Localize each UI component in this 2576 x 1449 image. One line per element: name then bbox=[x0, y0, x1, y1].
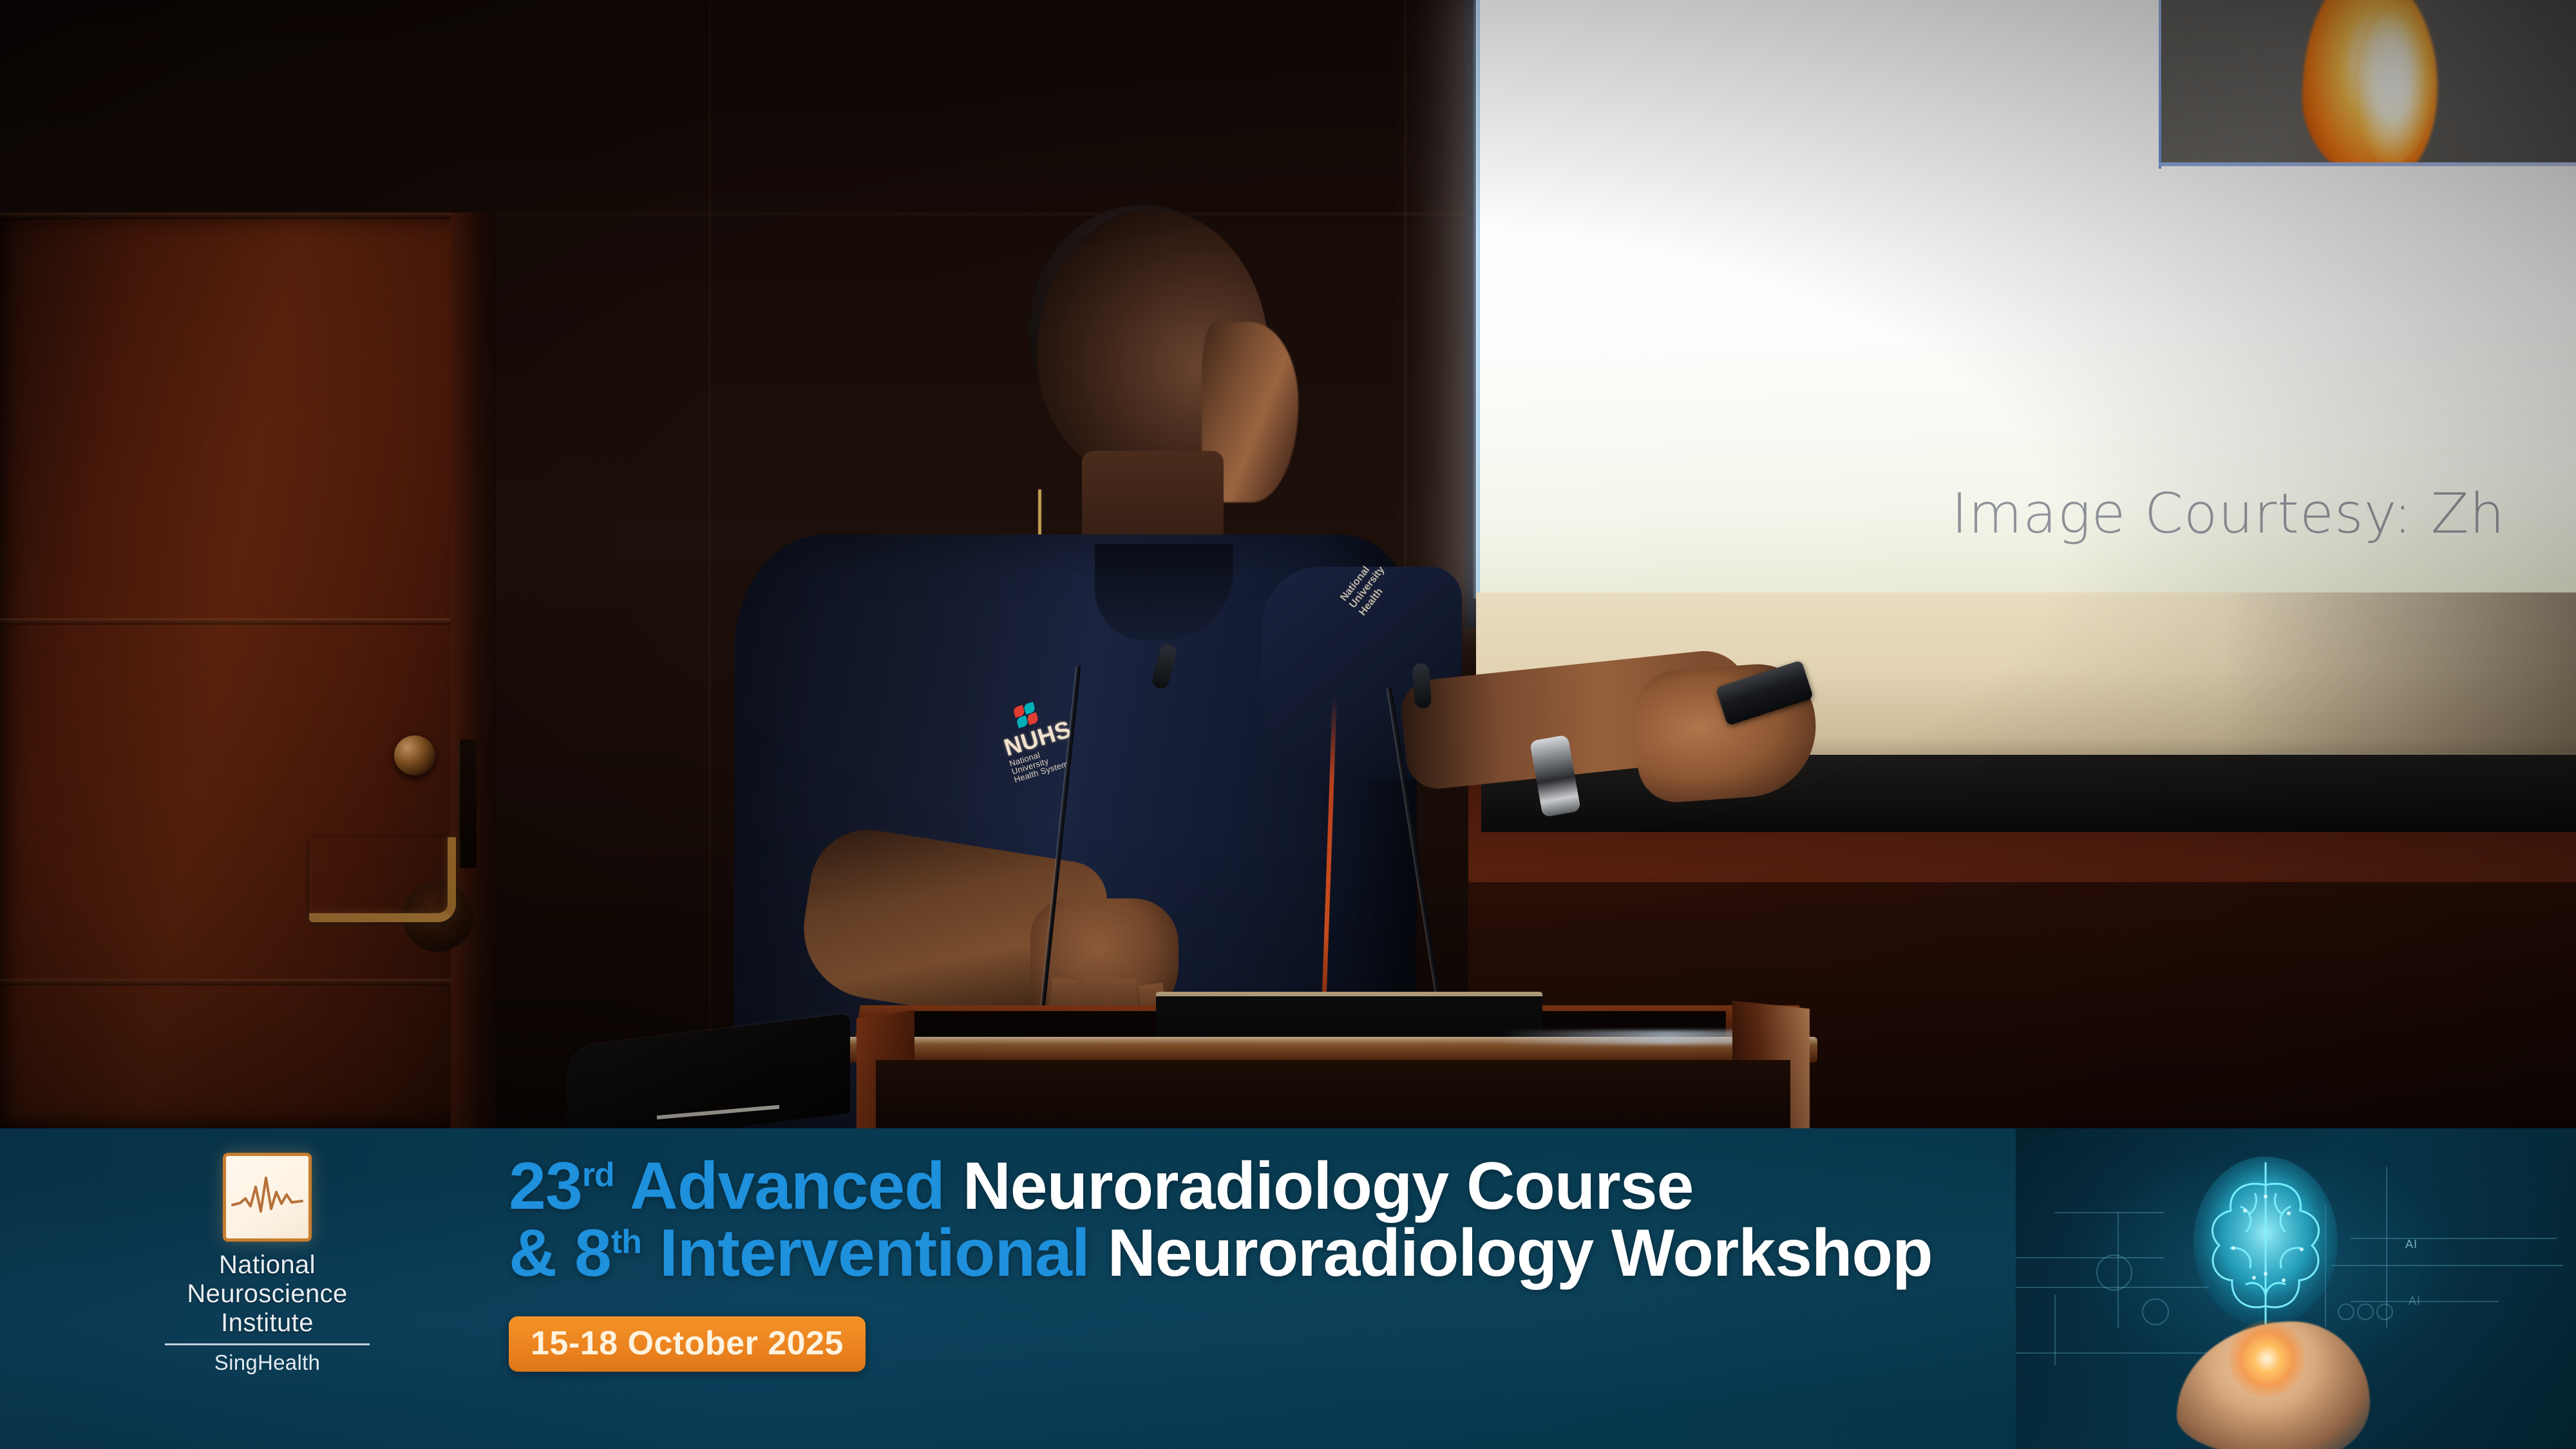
headline-line-1: 23rd Advanced Neuroradiology Course bbox=[509, 1153, 1933, 1220]
podium-body bbox=[876, 1060, 1790, 1128]
ordinal-suffix-rd: rd bbox=[582, 1156, 614, 1193]
accent-word-interventional: Interventional bbox=[641, 1216, 1090, 1291]
wooden-door[interactable] bbox=[0, 213, 489, 1128]
brainwave-svg bbox=[231, 1173, 303, 1220]
nni-line-2: Neuroscience Institute bbox=[161, 1280, 374, 1338]
slide-caption-text: Image Courtesy: Zh bbox=[1951, 482, 2505, 546]
ai-text-label: AI bbox=[2409, 1294, 2421, 1308]
headline-line-2: & 8th Interventional Neuroradiology Work… bbox=[509, 1220, 1933, 1287]
slide-image-border bbox=[2159, 0, 2161, 169]
date-badge: 15-18 October 2025 bbox=[509, 1316, 866, 1372]
accent-word-advanced: Advanced bbox=[614, 1149, 945, 1224]
slide-image-border bbox=[2159, 162, 2576, 166]
glow-spark bbox=[2228, 1320, 2306, 1397]
conference-photo: Image Courtesy: Zh NUHS bbox=[0, 0, 2576, 1128]
door-strike-plate bbox=[459, 739, 477, 868]
nni-logo[interactable]: National Neuroscience Institute SingHeal… bbox=[161, 1153, 374, 1375]
ordinal-number-23: 23 bbox=[509, 1149, 582, 1224]
nni-line-1: National bbox=[161, 1251, 374, 1280]
headline-white-2: Neuroradiology Workshop bbox=[1108, 1216, 1933, 1291]
ordinal-suffix-th: th bbox=[611, 1223, 641, 1260]
screenshot-root: Image Courtesy: Zh NUHS bbox=[0, 0, 2576, 1449]
door-jamb bbox=[451, 213, 496, 1128]
banner-headline: 23rd Advanced Neuroradiology Course & 8t… bbox=[509, 1153, 1933, 1372]
brain-icon bbox=[2169, 1151, 2362, 1345]
microphone-head-right bbox=[1412, 663, 1432, 709]
door-lock-icon[interactable] bbox=[394, 735, 435, 775]
brainwave-icon bbox=[223, 1153, 312, 1242]
door-handle[interactable] bbox=[309, 837, 456, 922]
ai-text-label: AI bbox=[2405, 1238, 2418, 1251]
ampersand-8: & 8 bbox=[509, 1216, 611, 1291]
ai-brain-artwork: AI AI bbox=[2016, 1128, 2576, 1449]
headline-white-1: Neuroradiology Course bbox=[963, 1149, 1694, 1224]
nni-singhealth-label: SingHealth bbox=[161, 1350, 374, 1375]
screen-edge-glow bbox=[1472, 0, 1480, 599]
slide-medical-image bbox=[2161, 0, 2576, 165]
wall-seam bbox=[708, 0, 711, 1128]
nni-divider bbox=[165, 1343, 370, 1345]
beige-wall-shadow bbox=[2222, 592, 2576, 779]
